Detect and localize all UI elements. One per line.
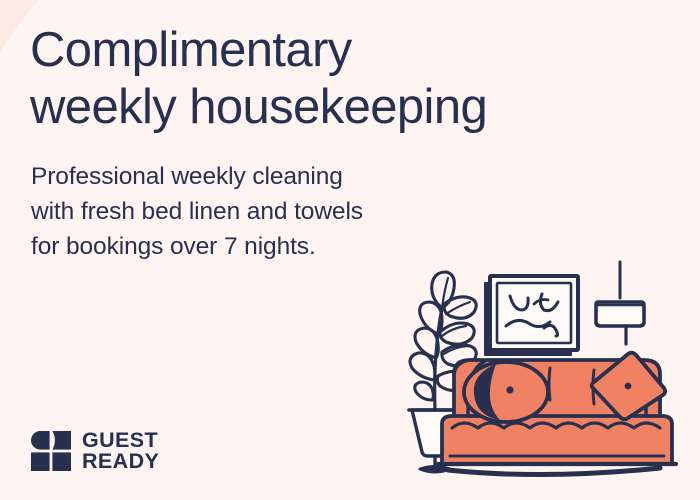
- logo-line-2: READY: [82, 451, 159, 472]
- coral-sofa: [438, 353, 676, 475]
- guestready-logo: GUEST READY: [31, 430, 159, 472]
- logo-line-1: GUEST: [82, 430, 159, 451]
- framed-abstract-artwork: [484, 276, 578, 356]
- guestready-square-mark: [31, 431, 71, 471]
- banner-content: Complimentary weekly housekeeping Profes…: [0, 0, 700, 500]
- round-cushion: [464, 362, 548, 422]
- subcopy-text: Professional weekly cleaning with fresh …: [31, 160, 461, 264]
- page-title: Complimentary weekly housekeeping: [30, 22, 630, 136]
- pendant-lamp: [596, 262, 644, 344]
- living-room-illustration: [398, 258, 690, 496]
- guestready-wordmark: GUEST READY: [82, 430, 159, 472]
- promo-banner: Complimentary weekly housekeeping Profes…: [0, 0, 700, 500]
